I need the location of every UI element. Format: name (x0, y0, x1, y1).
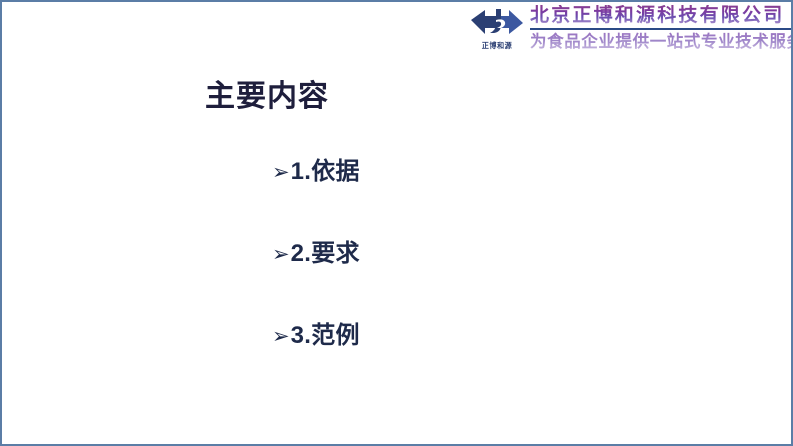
company-slogan: 为食品企业提供一站式专业技术服务 (530, 32, 793, 52)
letterhead-header: 正博和源 北京正博和源科技有限公司 为食品企业提供一站式专业技术服务 (464, 2, 793, 64)
zhengbo-heyuan-logo-icon (470, 5, 524, 39)
list-item-label: 2.要求 (291, 239, 360, 269)
letterhead-text-block: 北京正博和源科技有限公司 为食品企业提供一站式专业技术服务 (530, 2, 793, 52)
contents-list: ➢ 1.依据 ➢ 2.要求 ➢ 3.范例 (272, 157, 652, 403)
company-name: 北京正博和源科技有限公司 (530, 5, 793, 27)
list-item[interactable]: ➢ 2.要求 (272, 239, 652, 321)
letterhead-divider (530, 28, 793, 30)
list-item-label: 3.范例 (291, 321, 360, 351)
logo-caption: 正博和源 (482, 40, 512, 51)
list-item[interactable]: ➢ 3.范例 (272, 321, 652, 403)
arrow-bullet-icon: ➢ (272, 157, 290, 187)
presentation-slide: 正博和源 北京正博和源科技有限公司 为食品企业提供一站式专业技术服务 主要内容 … (0, 0, 793, 446)
company-logo: 正博和源 (464, 2, 530, 51)
list-item[interactable]: ➢ 1.依据 (272, 157, 652, 239)
page-title: 主要内容 (205, 78, 329, 116)
list-item-label: 1.依据 (291, 157, 360, 187)
arrow-bullet-icon: ➢ (272, 321, 290, 351)
arrow-bullet-icon: ➢ (272, 239, 290, 269)
